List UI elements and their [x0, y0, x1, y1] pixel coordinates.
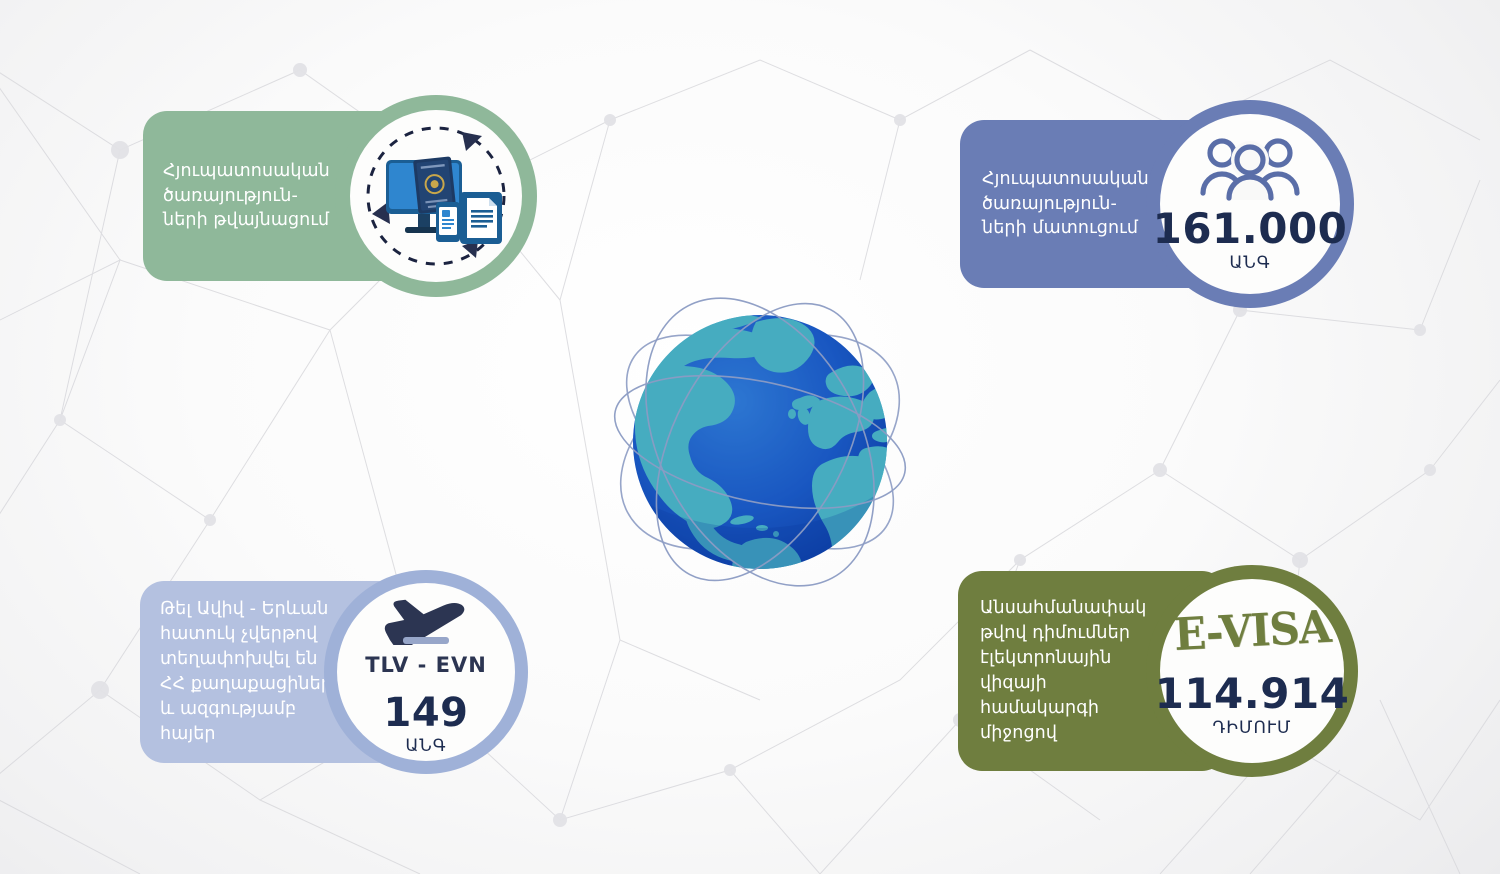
card-service-digitalization: Հյուպատոսական ծառայություն- ների թվայնաց… — [143, 95, 537, 297]
card-label: Հյուպատոսական ծառայություն- ների թվայնաց… — [163, 159, 330, 234]
stat-unit: ԱՆԳ — [405, 738, 446, 755]
airplane-takeoff-icon — [371, 589, 481, 645]
disc-service-digitalization — [335, 95, 537, 297]
infographic-canvas: Հյուպատոսական ծառայություն- ների թվայնաց… — [0, 0, 1500, 874]
disc-special-flight: TLV - EVN 149 ԱՆԳ — [324, 570, 528, 774]
evisa-stamp-icon: E-VISA — [1173, 600, 1332, 660]
flight-route-label: TLV - EVN — [365, 653, 487, 677]
stat-value: 149 — [384, 693, 469, 733]
stat-value: 161.000 — [1153, 208, 1348, 250]
globe-landmasses — [633, 313, 914, 632]
passport-digitalization-icon — [350, 110, 522, 282]
document-icon — [460, 192, 502, 244]
disc-evisa-applications: E-VISA 114.914 ԴԻՄՈՒՄ — [1146, 565, 1358, 777]
globe-graphic — [570, 252, 950, 632]
stat-unit: ԱՆԳ — [1229, 255, 1270, 272]
card-special-flight: Թել Ավիվ - Երևան հատուկ չվերթով տեղափոխվ… — [140, 570, 528, 774]
mobile-phone-icon — [436, 202, 460, 242]
stat-unit: ԴԻՄՈՒՄ — [1212, 720, 1291, 737]
card-services-provided: Հյուպատոսական ծառայություն- ների մատուցո… — [960, 100, 1354, 308]
card-evisa-applications: Անսահմանափակ թվով դիմումներ էլեկտրոնային… — [958, 565, 1358, 777]
card-label: Անսահմանափակ թվով դիմումներ էլեկտրոնային… — [980, 596, 1146, 745]
people-group-icon — [1198, 136, 1302, 202]
card-label: Թել Ավիվ - Երևան հատուկ չվերթով տեղափոխվ… — [160, 597, 332, 746]
card-label: Հյուպատոսական ծառայություն- ների մատուցո… — [982, 167, 1149, 242]
disc-services-provided: 161.000 ԱՆԳ — [1146, 100, 1354, 308]
stat-value: 114.914 — [1155, 673, 1350, 715]
